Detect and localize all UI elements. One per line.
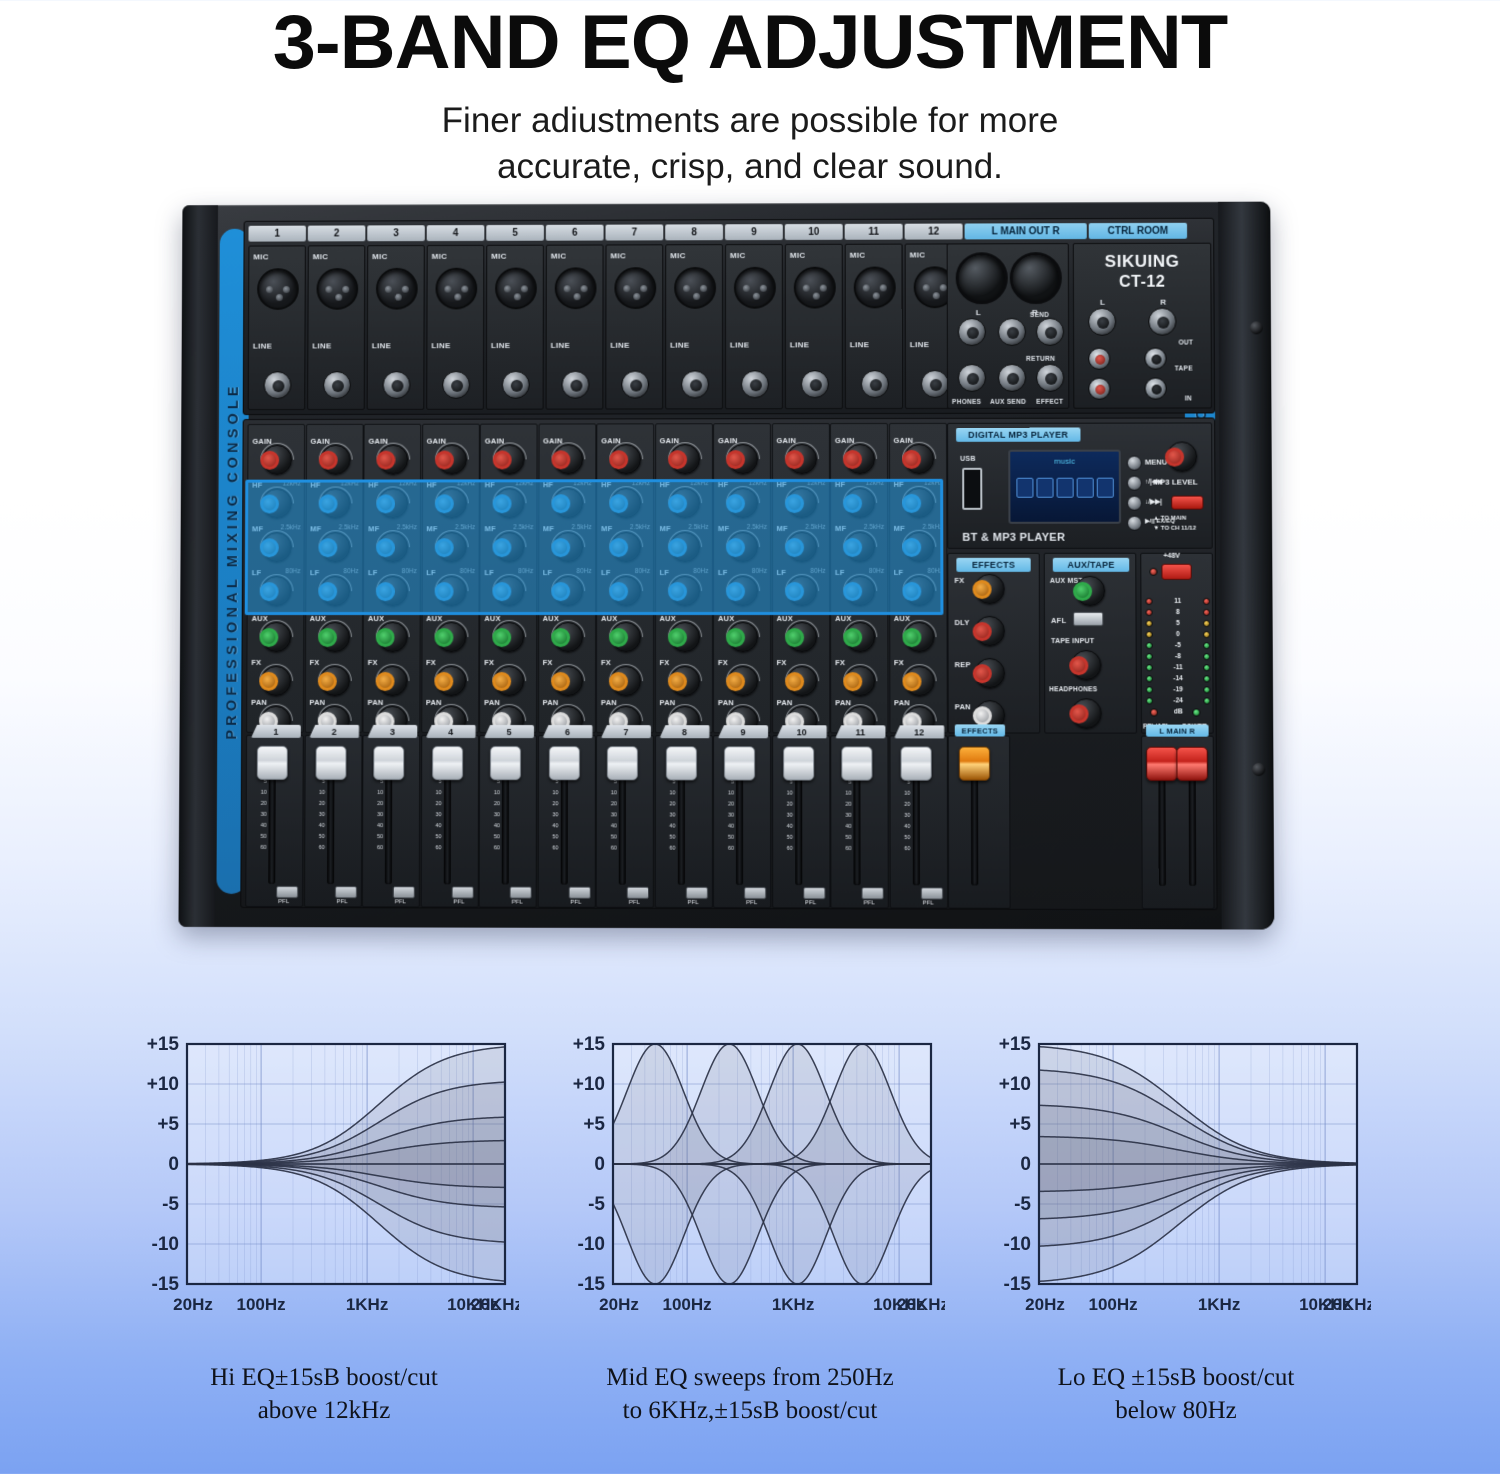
hf-5-freq-label: 12kHz xyxy=(515,480,533,487)
fader-track-1[interactable] xyxy=(268,752,276,884)
fader-scale-tick-1-7: 60 xyxy=(252,843,266,854)
hf-5-knob[interactable] xyxy=(495,488,525,518)
mf-3-knob[interactable] xyxy=(378,532,408,562)
meter-led-left-7 xyxy=(1146,675,1153,682)
hf-4-knob[interactable] xyxy=(436,488,466,518)
effects-fader-title: EFFECTS xyxy=(955,724,1005,736)
aux-1-knob[interactable] xyxy=(261,622,291,652)
fader-track-3[interactable] xyxy=(385,752,392,884)
fader-scale-tick-8-7: 60 xyxy=(661,844,675,855)
pfl-button-12[interactable] xyxy=(920,887,942,899)
phantom-power-switch[interactable] xyxy=(1161,564,1191,580)
fx-3-knob[interactable] xyxy=(378,666,408,696)
mf-9-knob[interactable] xyxy=(728,532,758,562)
mf-2-knob[interactable] xyxy=(320,532,350,562)
chart-svg-mid-eq: +15+10+50-5-10-1520Hz100Hz1KHz10KHz20KHz xyxy=(555,1028,945,1328)
meter-led-left-3 xyxy=(1146,631,1153,638)
gain-1-knob[interactable] xyxy=(262,445,292,475)
gain-12-knob[interactable] xyxy=(904,444,934,474)
main-right-fader-cap[interactable] xyxy=(1176,747,1207,781)
gain-4-knob[interactable] xyxy=(436,445,466,475)
meter-led-left-9 xyxy=(1146,697,1153,704)
meter-led-right-0 xyxy=(1203,598,1210,605)
page-title: 3-BAND EQ ADJUSTMENT xyxy=(0,4,1500,82)
pfl-label-6: PFL xyxy=(570,900,581,906)
pfl-button-11[interactable] xyxy=(862,887,884,899)
lf-8-knob[interactable] xyxy=(670,576,700,606)
lf-7-knob[interactable] xyxy=(611,576,641,606)
fader-scale-tick-7-6: 50 xyxy=(603,832,617,843)
caption-lo-eq-line2: below 80Hz xyxy=(1115,1397,1237,1424)
mixer-console: PROFESSIONAL MIXING CONSOLE PROFESSIONAL… xyxy=(178,202,1274,930)
meter-led-right-4 xyxy=(1203,642,1210,649)
fader-scale-tick-10-3: 20 xyxy=(779,800,793,811)
fx-12-knob[interactable] xyxy=(904,666,934,696)
lf-12-label: LF xyxy=(894,568,904,577)
fader-number-1: 1 xyxy=(251,725,301,738)
lf-3-knob[interactable] xyxy=(378,576,408,606)
mf-1-label: MF xyxy=(252,524,263,533)
lf-10-knob[interactable] xyxy=(787,576,817,606)
fader-scale-tick-11-6: 50 xyxy=(837,833,851,844)
pfl-label-11: PFL xyxy=(864,900,875,906)
fader-scale-tick-10-5: 40 xyxy=(779,822,793,833)
fader-number-8: 8 xyxy=(659,725,709,738)
fader-cap-9[interactable] xyxy=(724,746,755,780)
fx-10-knob[interactable] xyxy=(787,666,817,696)
fx-10-label: FX xyxy=(777,658,787,667)
pfl-button-6[interactable] xyxy=(568,887,590,899)
hf-4-freq-label: 12kHz xyxy=(457,480,475,487)
y-tick-label-2: +5 xyxy=(157,1114,179,1135)
line-input-6[interactable] xyxy=(562,371,590,399)
pfl-label-10: PFL xyxy=(805,900,816,906)
main-fader-title: L MAIN R xyxy=(1146,725,1209,737)
aux-2-label: AUX xyxy=(310,614,326,623)
fader-scale-tick-8-4: 30 xyxy=(661,810,675,821)
hf-6-knob[interactable] xyxy=(553,488,583,518)
line-input-2[interactable] xyxy=(323,371,351,399)
mf-5-knob[interactable] xyxy=(494,532,524,562)
y-tick-label-4: -5 xyxy=(162,1194,179,1215)
fader-scale-tick-7-2: 10 xyxy=(603,788,617,799)
meter-row-11: 11 xyxy=(1145,596,1210,607)
x-tick-label-0: 20Hz xyxy=(1025,1295,1065,1314)
mp3-play-button[interactable] xyxy=(1127,516,1142,531)
pfl-button-3[interactable] xyxy=(393,886,415,898)
line-input-3[interactable] xyxy=(383,371,411,399)
fader-scale-9: U5102030405060 xyxy=(720,766,734,879)
lf-6-knob[interactable] xyxy=(553,576,583,606)
y-tick-label-6: -15 xyxy=(152,1274,180,1295)
pfl-label-3: PFL xyxy=(395,899,406,905)
fx-11-label: FX xyxy=(835,658,845,667)
effects-rep-knob[interactable] xyxy=(975,658,1005,688)
mic-xlr-input-7[interactable] xyxy=(614,267,656,309)
aux-tape-bay: AUX/TAPE AUX MST AFL TAPE INPUT HEADPHON… xyxy=(1044,553,1137,734)
aux-9-knob[interactable] xyxy=(728,622,758,652)
fx-8-knob[interactable] xyxy=(669,666,699,696)
hf-10-knob[interactable] xyxy=(786,488,816,518)
mic-xlr-input-11[interactable] xyxy=(854,267,896,309)
aux-7-label: AUX xyxy=(601,614,617,623)
x-tick-label-2: 1KHz xyxy=(1198,1295,1241,1314)
mp3-to-ch-label: ▼ TO CH 11/12 xyxy=(1153,526,1196,532)
effects-pan-label: PAN xyxy=(955,702,971,711)
channel-header-5: 5 xyxy=(486,225,544,241)
aux-6-knob[interactable] xyxy=(553,622,583,652)
aux-3-knob[interactable] xyxy=(378,622,408,652)
meter-led-rows: 11850-5-8-11-14-19-24dB xyxy=(1145,596,1210,718)
pfl-label-1: PFL xyxy=(278,899,289,905)
tape-out-right-rca[interactable] xyxy=(1144,348,1166,370)
pfl-button-2[interactable] xyxy=(334,886,356,898)
mic-xlr-input-9[interactable] xyxy=(734,267,776,309)
aux-send-jack[interactable] xyxy=(998,318,1026,346)
main-left-fader-cap[interactable] xyxy=(1146,747,1177,781)
usb-port[interactable] xyxy=(962,468,982,510)
lf-11-knob[interactable] xyxy=(845,576,875,606)
mic-xlr-input-3[interactable] xyxy=(376,268,418,310)
pfl-button-9[interactable] xyxy=(744,887,766,899)
meter-row-neg8: -8 xyxy=(1146,651,1211,662)
aux-2-knob[interactable] xyxy=(320,622,350,652)
mic-xlr-input-1[interactable] xyxy=(257,268,299,310)
fader-scale-tick-3-4: 30 xyxy=(369,810,383,821)
fx-7-knob[interactable] xyxy=(611,666,641,696)
mf-5-label: MF xyxy=(485,524,496,533)
mp3-bay-title: DIGITAL MP3 PLAYER xyxy=(956,428,1080,442)
pfl-button-10[interactable] xyxy=(803,887,825,899)
mp3-level-knob[interactable] xyxy=(1167,442,1197,472)
pfl-button-4[interactable] xyxy=(451,886,473,898)
headphones-knob[interactable] xyxy=(1071,698,1101,728)
fx-5-knob[interactable] xyxy=(494,666,524,696)
gain-2-knob[interactable] xyxy=(320,445,350,475)
fader-number-3: 3 xyxy=(367,725,417,738)
mf-1-knob[interactable] xyxy=(262,532,292,562)
mp3-level-label: MP3 LEVEL xyxy=(1153,478,1198,487)
hf-3-knob[interactable] xyxy=(378,488,408,518)
fader-scale-tick-3-3: 20 xyxy=(369,799,383,810)
tape-in-left-rca[interactable] xyxy=(1088,378,1110,400)
fx-send-jack[interactable] xyxy=(1036,318,1064,346)
fader-scale-tick-11-5: 40 xyxy=(837,822,851,833)
line-input-8[interactable] xyxy=(681,370,709,398)
tape-in-right-rca[interactable] xyxy=(1145,378,1167,400)
mic-xlr-input-10[interactable] xyxy=(794,267,836,309)
aux-8-label: AUX xyxy=(660,614,676,623)
tape-input-knob[interactable] xyxy=(1071,650,1101,680)
aux-8-knob[interactable] xyxy=(669,622,699,652)
record-icon xyxy=(1057,478,1074,498)
mf-7-knob[interactable] xyxy=(611,532,641,562)
fader-scale-tick-7-5: 40 xyxy=(603,821,617,832)
send-label: SEND xyxy=(1030,312,1049,319)
fader-scale-tick-12-5: 40 xyxy=(896,822,910,833)
aux-4-knob[interactable] xyxy=(436,622,466,652)
fader-cap-2[interactable] xyxy=(315,746,346,780)
mf-6-knob[interactable] xyxy=(553,532,583,562)
mf-12-knob[interactable] xyxy=(904,532,934,562)
subtitle-line-2: accurate, crisp, and clear sound. xyxy=(497,147,1003,186)
fx-4-knob[interactable] xyxy=(436,666,466,696)
aux-12-label: AUX xyxy=(894,614,911,623)
mic-label-4: MIC xyxy=(432,252,447,261)
fx-6-knob[interactable] xyxy=(553,666,583,696)
fx-12-label: FX xyxy=(894,658,904,667)
lf-11-label: LF xyxy=(835,568,845,577)
hf-1-knob[interactable] xyxy=(262,489,292,519)
fx-11-knob[interactable] xyxy=(845,666,875,696)
gain-8-knob[interactable] xyxy=(670,444,700,474)
aux-12-knob[interactable] xyxy=(904,622,934,652)
line-label-11: LINE xyxy=(850,340,869,349)
hf-9-freq-label: 12kHz xyxy=(749,480,767,487)
gain-9-knob[interactable] xyxy=(728,444,758,474)
fader-cap-1[interactable] xyxy=(257,746,288,780)
lf-10-label: LF xyxy=(777,568,787,577)
tape-out-left-rca[interactable] xyxy=(1088,348,1110,370)
pfl-button-1[interactable] xyxy=(276,886,298,898)
fader-scale-tick-11-3: 20 xyxy=(837,800,851,811)
knob-strip-5: GAINHF12kHzMF2.5kHzLF80HzAUXFXPAN xyxy=(479,424,537,734)
fader-scale-tick-3-6: 50 xyxy=(369,832,383,843)
mf-10-knob[interactable] xyxy=(786,532,816,562)
header: 3-BAND EQ ADJUSTMENT Finer adiustments a… xyxy=(0,0,1500,190)
knob-strip-11: GAINHF12kHzMF2.5kHzLF80HzAUXFXPAN xyxy=(830,423,889,733)
ctrl-room-out-right-jack[interactable] xyxy=(1148,308,1176,336)
effects-dly-knob[interactable] xyxy=(975,616,1005,646)
fader-track-7[interactable] xyxy=(619,752,626,885)
hf-11-knob[interactable] xyxy=(845,488,875,518)
mp3-menu-button[interactable] xyxy=(1127,456,1142,471)
mf-8-knob[interactable] xyxy=(670,532,700,562)
phones-jack-2[interactable] xyxy=(958,364,986,392)
aux-10-knob[interactable] xyxy=(787,622,817,652)
effects-fx-knob[interactable] xyxy=(974,574,1004,604)
channel-header-2: 2 xyxy=(308,225,365,241)
lf-12-knob[interactable] xyxy=(904,576,934,606)
pfl-button-7[interactable] xyxy=(627,887,649,899)
knob-strip-8: GAINHF12kHzMF2.5kHzLF80HzAUXFXPAN xyxy=(654,423,712,733)
channel-header-6: 6 xyxy=(546,225,604,241)
gain-6-knob[interactable] xyxy=(553,444,583,474)
line-input-5[interactable] xyxy=(502,371,530,399)
knob-strip-9: GAINHF12kHzMF2.5kHzLF80HzAUXFXPAN xyxy=(713,423,771,733)
mf-4-knob[interactable] xyxy=(436,532,466,562)
effects-bay: EFFECTS FX DLY REP PAN xyxy=(947,553,1040,734)
pan-6-label: PAN xyxy=(543,698,559,707)
hf-3-label: HF xyxy=(368,480,378,489)
fader-track-6[interactable] xyxy=(560,752,567,884)
lf-2-knob[interactable] xyxy=(320,576,350,606)
hf-7-knob[interactable] xyxy=(611,488,641,518)
hf-12-knob[interactable] xyxy=(904,488,934,518)
lf-6-freq-label: 80Hz xyxy=(576,568,591,575)
main-out-xlr-left[interactable] xyxy=(956,252,1008,304)
aux-1-label: AUX xyxy=(252,614,268,623)
pfl-label-7: PFL xyxy=(629,900,640,906)
afl-label: AFL xyxy=(1051,616,1066,625)
fader-strip-4: 4U5102030405060PFL xyxy=(420,735,478,908)
fader-cap-12[interactable] xyxy=(900,746,931,780)
aux-7-knob[interactable] xyxy=(611,622,641,652)
gain-7-knob[interactable] xyxy=(611,444,641,474)
y-tick-label-6: -15 xyxy=(578,1274,606,1295)
fader-cap-4[interactable] xyxy=(432,746,463,780)
aux-5-knob[interactable] xyxy=(494,622,524,652)
fader-cap-10[interactable] xyxy=(783,746,814,780)
main-master-fader-strip: L MAIN R xyxy=(1141,736,1214,910)
fader-cap-5[interactable] xyxy=(490,746,521,780)
pfl-button-8[interactable] xyxy=(685,887,707,899)
mic-xlr-input-4[interactable] xyxy=(435,268,477,310)
fader-scale-12: U5102030405060 xyxy=(896,767,910,880)
gain-5-knob[interactable] xyxy=(495,444,525,474)
line-input-10[interactable] xyxy=(801,370,829,398)
line-input-9[interactable] xyxy=(741,370,769,398)
effects-master-fader-track[interactable] xyxy=(971,753,978,886)
mic-xlr-input-2[interactable] xyxy=(316,268,358,310)
fader-scale-tick-4-2: 10 xyxy=(428,788,442,799)
afl-switch[interactable] xyxy=(1073,612,1103,626)
lf-3-label: LF xyxy=(368,568,378,577)
fader-track-5[interactable] xyxy=(502,752,509,884)
fader-scale-tick-5-6: 50 xyxy=(486,832,500,843)
lf-1-knob[interactable] xyxy=(262,576,292,606)
fx-2-knob[interactable] xyxy=(319,666,349,696)
mp3-prev-button[interactable] xyxy=(1127,476,1142,491)
meter-row-neg5: -5 xyxy=(1146,640,1211,651)
main-right-fader-track[interactable] xyxy=(1189,753,1197,886)
mp3-footer-label: BT & MP3 PLAYER xyxy=(962,532,1065,544)
lf-4-knob[interactable] xyxy=(436,576,466,606)
hf-9-knob[interactable] xyxy=(728,488,758,518)
fader-track-4[interactable] xyxy=(443,752,450,884)
mp3-route-switch[interactable] xyxy=(1171,496,1203,510)
gain-10-knob[interactable] xyxy=(786,444,816,474)
music-note-icon xyxy=(1016,478,1033,498)
lf-2-label: LF xyxy=(310,568,320,577)
aux-11-label: AUX xyxy=(835,614,851,623)
fader-scale-tick-9-5: 40 xyxy=(720,822,734,833)
main-out-xlr-right[interactable] xyxy=(1010,252,1062,304)
fader-track-8[interactable] xyxy=(677,752,684,885)
input-column-5: MICLINE xyxy=(486,245,544,410)
aux-10-label: AUX xyxy=(777,614,793,623)
fader-strip-3: 3U5102030405060PFL xyxy=(362,735,420,907)
pfl-afl-led xyxy=(1150,708,1158,716)
phones-jack[interactable] xyxy=(958,318,986,346)
lf-7-freq-label: 80Hz xyxy=(635,568,650,575)
mf-7-label: MF xyxy=(601,524,612,533)
channel-number-headers: 123456789101112L MAIN OUT RCTRL ROOM xyxy=(248,223,1187,242)
meter-led-left-8 xyxy=(1146,686,1153,693)
line-input-4[interactable] xyxy=(442,371,470,399)
fader-cap-6[interactable] xyxy=(548,746,579,780)
mic-xlr-input-8[interactable] xyxy=(674,267,716,309)
line-input-11[interactable] xyxy=(861,370,889,398)
gain-11-knob[interactable] xyxy=(845,444,875,474)
line-input-12[interactable] xyxy=(921,370,949,398)
mf-11-knob[interactable] xyxy=(845,532,875,562)
fx-1-label: FX xyxy=(251,658,261,667)
line-input-1[interactable] xyxy=(264,371,292,399)
lf-9-knob[interactable] xyxy=(728,576,758,606)
tape-in-label: IN xyxy=(1185,395,1192,402)
mixer-panel: 123456789101112L MAIN OUT RCTRL ROOM MIC… xyxy=(240,218,1217,910)
meter-scale-label-3: 0 xyxy=(1176,631,1180,638)
rail-screw-top xyxy=(1250,321,1263,334)
mic-xlr-input-6[interactable] xyxy=(555,267,597,309)
fader-scale-tick-12-2: 10 xyxy=(896,789,910,800)
hf-12-freq-label: 12kHz xyxy=(924,480,942,487)
fader-cap-3[interactable] xyxy=(373,746,404,780)
gain-3-knob[interactable] xyxy=(378,445,408,475)
fader-scale-tick-7-3: 20 xyxy=(603,799,617,810)
knob-strip-6: GAINHF12kHzMF2.5kHzLF80HzAUXFXPAN xyxy=(537,423,595,733)
fader-strip-1: 1U5102030405060PFL xyxy=(245,735,304,907)
fader-scale-tick-10-6: 50 xyxy=(779,833,793,844)
fx-1-knob[interactable] xyxy=(261,666,291,696)
fx-9-knob[interactable] xyxy=(728,666,758,696)
mp3-next-button[interactable] xyxy=(1127,496,1142,511)
fx-5-label: FX xyxy=(484,658,494,667)
x-tick-label-1: 100Hz xyxy=(1089,1295,1138,1314)
mf-6-label: MF xyxy=(543,524,554,533)
fader-cap-8[interactable] xyxy=(665,746,696,780)
ctrl-room-out-left-jack[interactable] xyxy=(1088,308,1116,336)
fader-scale-tick-10-2: 10 xyxy=(779,789,793,800)
fader-strip-6: 6U5102030405060PFL xyxy=(537,735,595,908)
mic-xlr-input-5[interactable] xyxy=(495,268,537,310)
lf-5-knob[interactable] xyxy=(494,576,524,606)
input-column-11: MICLINE xyxy=(845,244,903,409)
caption-hi-eq: Hi EQ±15sB boost/cut above 12kHz xyxy=(129,1362,519,1427)
lf-9-label: LF xyxy=(718,568,728,577)
aux-mst-knob[interactable] xyxy=(1075,576,1105,606)
fader-scale-tick-4-5: 40 xyxy=(427,821,441,832)
fader-cap-11[interactable] xyxy=(841,746,872,780)
fader-scale-tick-6-4: 30 xyxy=(544,810,558,821)
tape-label: TAPE xyxy=(1175,365,1193,372)
fader-track-12[interactable] xyxy=(912,752,919,885)
aux-11-knob[interactable] xyxy=(845,622,875,652)
fader-track-10[interactable] xyxy=(795,752,802,885)
pan-11-label: PAN xyxy=(835,698,851,707)
effects-master-fader-cap[interactable] xyxy=(959,747,990,781)
mf-2-label: MF xyxy=(310,524,321,533)
fader-track-2[interactable] xyxy=(327,752,335,884)
rail-screw-bottom xyxy=(1252,763,1265,776)
fader-number-11: 11 xyxy=(835,725,885,738)
main-left-fader-track[interactable] xyxy=(1158,753,1166,886)
line-label-10: LINE xyxy=(790,340,809,349)
fader-cap-7[interactable] xyxy=(607,746,638,780)
fader-scale-tick-7-4: 30 xyxy=(603,810,617,821)
caption-hi-eq-line1: Hi EQ±15sB boost/cut xyxy=(210,1364,438,1391)
aux-send-jack-2[interactable] xyxy=(998,364,1026,392)
pfl-button-5[interactable] xyxy=(510,887,532,899)
hf-8-knob[interactable] xyxy=(670,488,700,518)
fader-track-11[interactable] xyxy=(853,752,860,885)
line-input-7[interactable] xyxy=(621,371,649,399)
hf-2-knob[interactable] xyxy=(320,488,350,518)
mf-7-freq-label: 2.5kHz xyxy=(630,524,650,531)
effect-return-jack[interactable] xyxy=(1036,364,1064,392)
fader-track-9[interactable] xyxy=(736,752,743,885)
